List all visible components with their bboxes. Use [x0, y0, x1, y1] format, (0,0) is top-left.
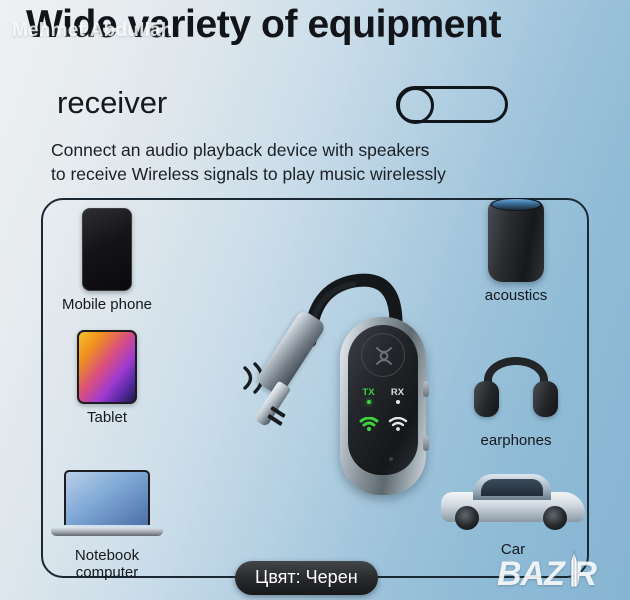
tx-indicator: TX	[356, 387, 382, 404]
product-marketing-image: Wide variety of equipment Mehmet Abdulla…	[0, 0, 630, 600]
adapter-indicator-panel: TX RX	[354, 387, 412, 437]
notebook-screen-icon	[64, 470, 150, 525]
speaker-top-ring-icon	[491, 198, 541, 211]
receive-signal-icon	[385, 417, 411, 437]
device-label-mobile-phone: Mobile phone	[53, 296, 161, 313]
car-icon	[439, 470, 587, 536]
headphones-right-cup-icon	[533, 381, 558, 417]
adapter-front-panel: TX RX	[348, 325, 418, 475]
color-variant-badge: Цвят: Черен	[235, 561, 378, 595]
adapter-side-button-down[interactable]	[423, 435, 429, 451]
device-label-car: Car	[438, 541, 588, 558]
receiver-mode-toggle[interactable]	[396, 86, 508, 123]
device-tablet: Tablet	[55, 330, 159, 426]
bluetooth-audio-adapter: TX RX	[262, 265, 442, 500]
description-line-2: to receive Wireless signals to play musi…	[51, 162, 446, 186]
toggle-knob-icon	[397, 87, 434, 124]
notebook-base-icon	[51, 528, 163, 536]
headphones-left-cup-icon	[474, 381, 499, 417]
adapter-body: TX RX	[340, 317, 426, 495]
transmit-signal-icon	[356, 417, 382, 437]
description-text: Connect an audio playback device with sp…	[51, 138, 446, 186]
device-notebook-computer: Notebook computer	[48, 470, 166, 581]
car-rear-wheel-icon	[543, 506, 567, 530]
speaker-icon	[488, 200, 544, 282]
rx-status-led	[396, 400, 400, 404]
tx-status-led	[367, 400, 371, 404]
indicator-label-row: TX RX	[354, 387, 412, 404]
indicator-icon-row	[354, 417, 412, 437]
device-label-earphones: earphones	[466, 432, 566, 449]
device-label-notebook-computer: Notebook computer	[48, 547, 166, 581]
device-earphones: earphones	[466, 355, 566, 449]
tablet-icon	[77, 330, 137, 404]
multifunction-button-icon[interactable]	[361, 333, 405, 377]
device-acoustics: acoustics	[470, 200, 562, 304]
device-label-acoustics: acoustics	[470, 287, 562, 304]
device-mobile-phone: Mobile phone	[53, 208, 161, 313]
car-window-icon	[481, 479, 543, 496]
tx-label: TX	[356, 387, 382, 398]
device-label-tablet: Tablet	[55, 409, 159, 426]
rx-label: RX	[385, 387, 411, 398]
description-line-1: Connect an audio playback device with sp…	[51, 138, 446, 162]
car-front-wheel-icon	[455, 506, 479, 530]
rx-indicator: RX	[385, 387, 411, 404]
microphone-hole-icon	[389, 457, 393, 461]
mobile-phone-icon	[82, 208, 132, 291]
adapter-side-button-up[interactable]	[423, 381, 429, 397]
notebook-computer-icon	[51, 470, 163, 542]
device-car: Car	[438, 470, 588, 558]
headphones-icon	[472, 355, 560, 427]
page-title: Wide variety of equipment	[26, 2, 616, 48]
section-subtitle: receiver	[57, 84, 167, 122]
